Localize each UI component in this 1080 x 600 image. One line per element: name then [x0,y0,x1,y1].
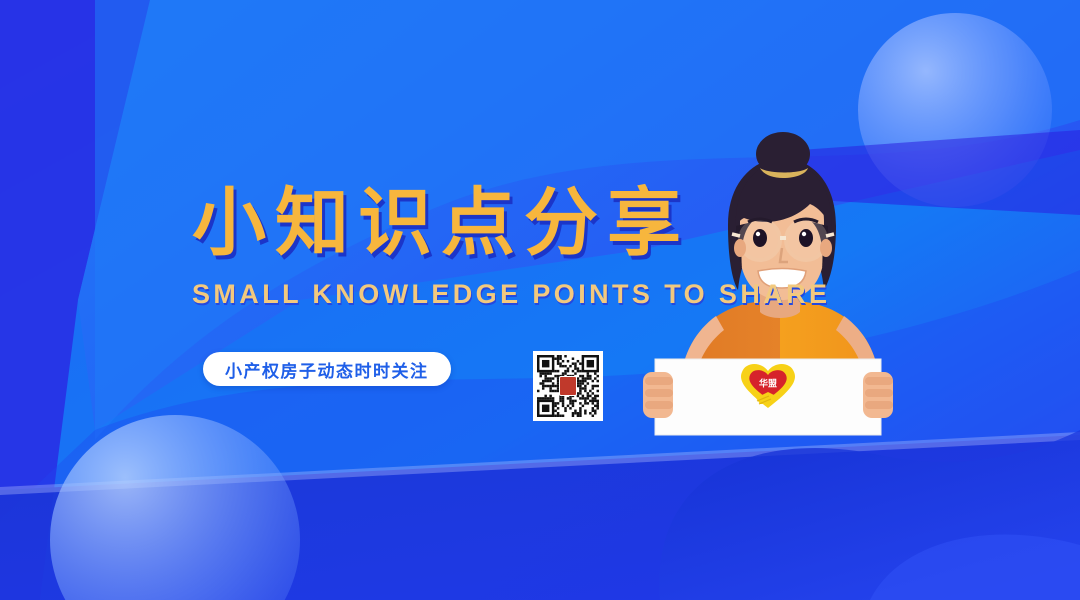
page-title: 小知识点分享 [192,185,662,263]
hand-left [643,372,673,418]
hand-right [863,372,893,418]
cta-pill-button[interactable]: 小产权房子动态时时关注 [203,352,451,386]
qr-code[interactable] [533,351,603,421]
cta-pill-label: 小产权房子动态时时关注 [225,357,429,382]
headline-group: 小知识点分享 SMALL KNOWLEDGE POINTS TO SHARE [192,185,662,310]
qr-center-logo [559,376,577,396]
page-subtitle: SMALL KNOWLEDGE POINTS TO SHARE [192,279,662,310]
promo-banner: 华盟 小知识点分享 SMALL KNOWLEDGE POINTS TO SHAR… [0,0,1080,600]
